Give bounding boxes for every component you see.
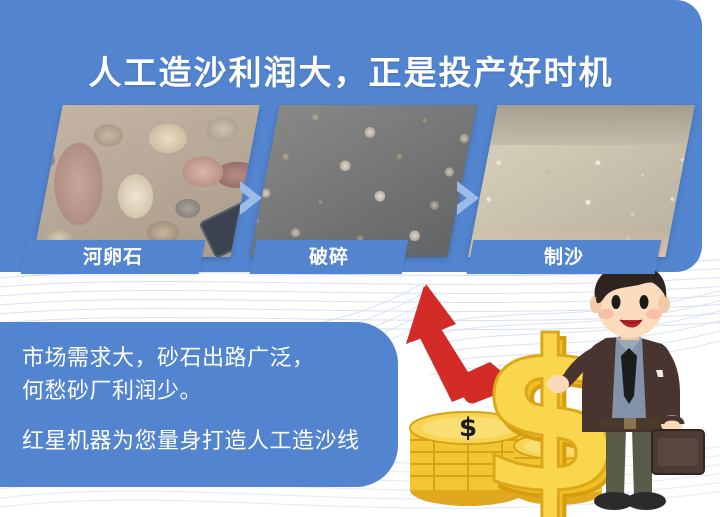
promo-poster: 人工造沙利润大，正是投产好时机 河卵石 破碎	[0, 0, 720, 517]
crushed-gravel-texture	[250, 105, 477, 257]
svg-text:$: $	[459, 413, 477, 443]
manufactured-sand-photo	[468, 105, 695, 257]
message-line-1: 市场需求大，砂石出路广泛，	[22, 342, 380, 375]
process-label-text: 河卵石	[24, 240, 202, 274]
process-label-river-pebbles: 河卵石	[21, 240, 206, 274]
message-line-3: 红星机器为您量身打造人工造沙线	[22, 425, 380, 458]
crushed-gravel-photo	[250, 105, 477, 257]
process-label-crushing: 破碎	[250, 240, 409, 274]
message-box: 市场需求大，砂石出路广泛， 何愁砂厂利润少。 红星机器为您量身打造人工造沙线	[0, 322, 398, 487]
chevron-right-icon	[236, 178, 270, 218]
chevron-right-icon	[453, 178, 487, 218]
river-pebbles-texture	[33, 105, 260, 257]
process-label-text: 制沙	[470, 240, 658, 274]
message-line-2: 何愁砂厂利润少。	[22, 375, 380, 408]
message-text-block: 市场需求大，砂石出路广泛， 何愁砂厂利润少。 红星机器为您量身打造人工造沙线	[22, 342, 380, 458]
business-illustration: $ $ $ $	[390, 268, 720, 517]
process-label-sand-making: 制沙	[467, 240, 662, 274]
manufactured-sand-texture	[468, 105, 695, 257]
page-title: 人工造沙利润大，正是投产好时机	[0, 46, 702, 94]
process-label-text: 破碎	[253, 240, 405, 274]
river-pebbles-photo	[33, 105, 260, 257]
